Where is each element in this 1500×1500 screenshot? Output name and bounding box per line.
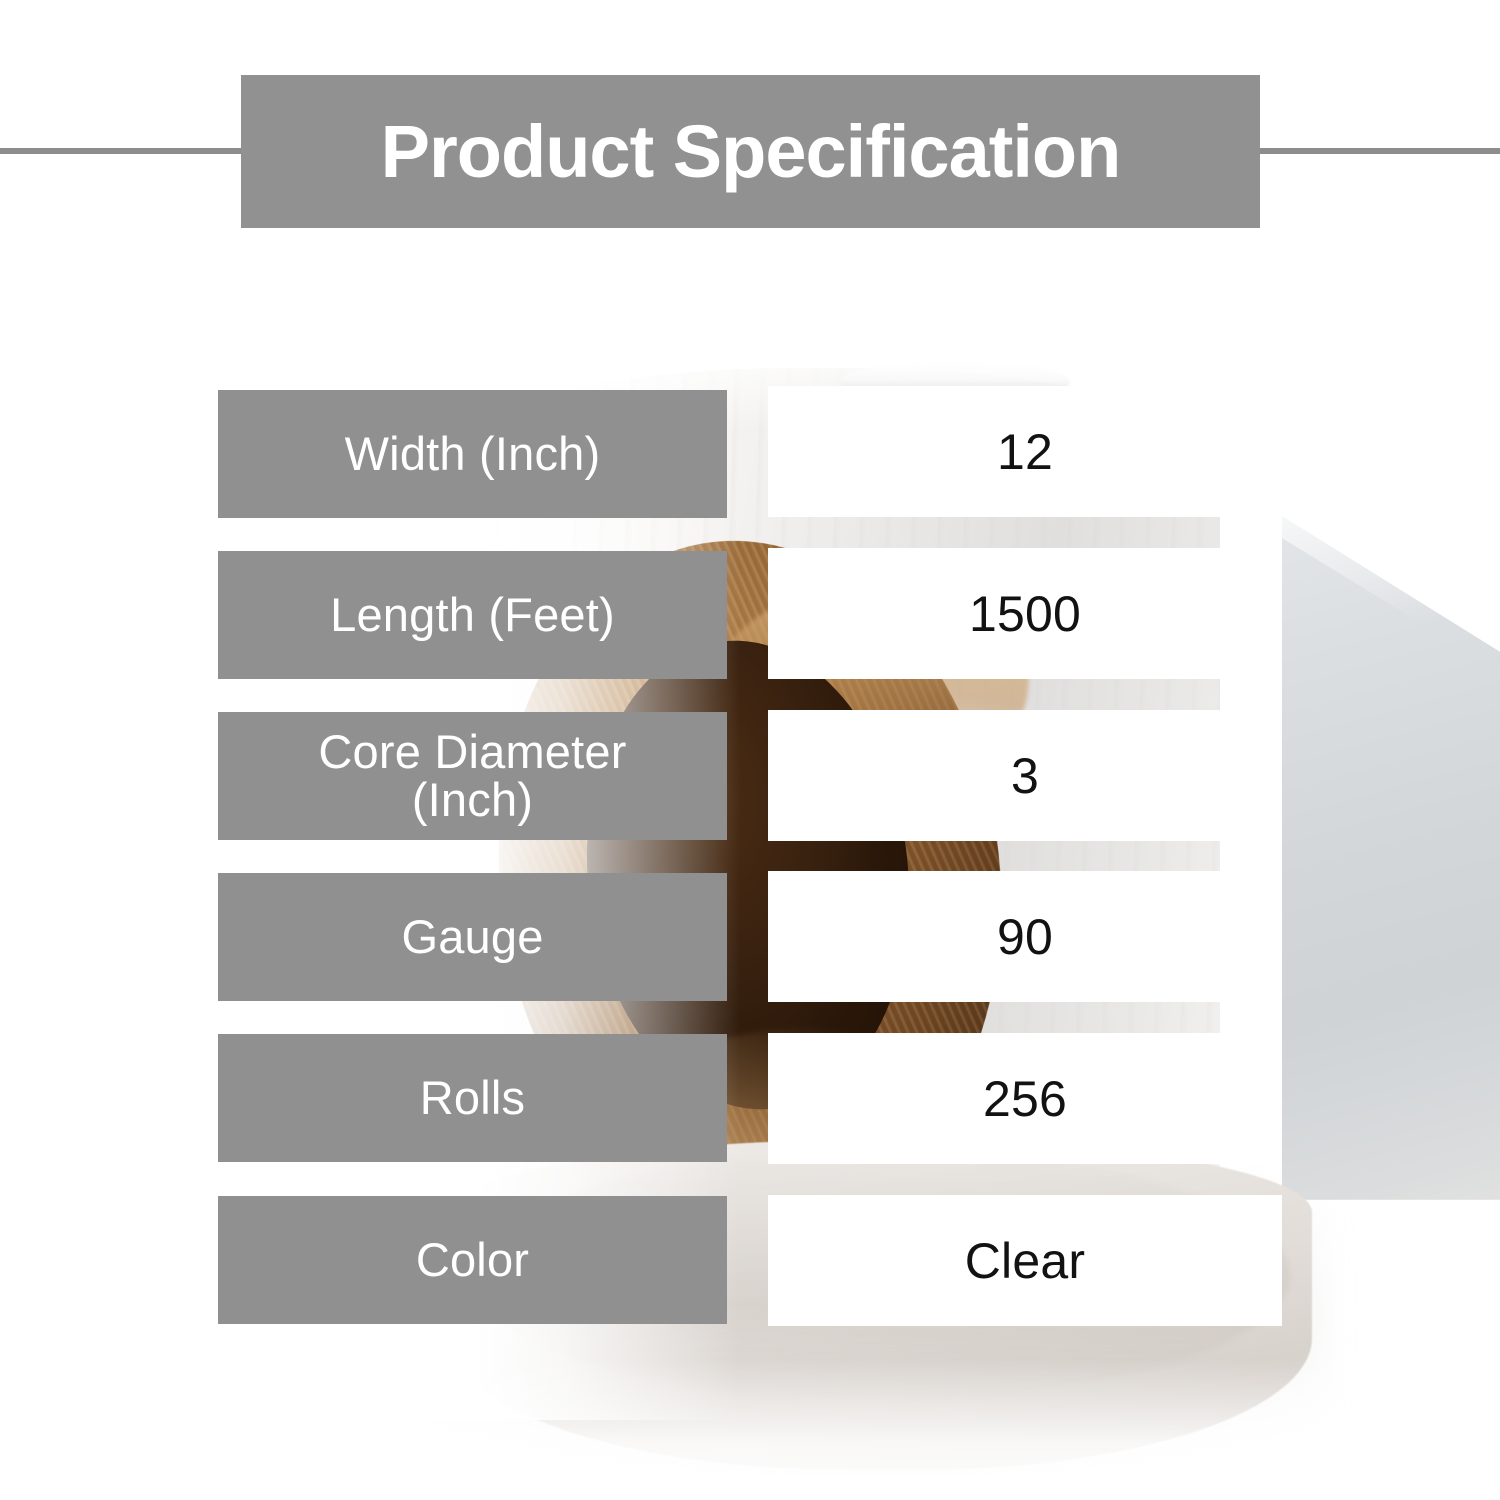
spec-value-core-diameter: 3 <box>768 710 1282 841</box>
spec-label-color: Color <box>218 1196 727 1324</box>
spec-label-rolls: Rolls <box>218 1034 727 1162</box>
spec-label-text: Width (Inch) <box>335 430 611 478</box>
spec-label-text: Core Diameter (Inch) <box>308 728 636 824</box>
spec-value-text: 256 <box>983 1074 1067 1124</box>
spec-value-width: 12 <box>768 386 1282 517</box>
spec-label-length: Length (Feet) <box>218 551 727 679</box>
spec-table: Width (Inch) 12 Length (Feet) 1500 Core … <box>0 0 1500 1500</box>
spec-value-text: 3 <box>1011 751 1039 801</box>
spec-value-color: Clear <box>768 1195 1282 1326</box>
spec-label-text: Gauge <box>391 913 553 961</box>
spec-value-text: 12 <box>997 427 1053 477</box>
spec-label-width: Width (Inch) <box>218 390 727 518</box>
spec-label-gauge: Gauge <box>218 873 727 1001</box>
spec-value-length: 1500 <box>768 548 1282 679</box>
spec-label-text: Rolls <box>410 1074 535 1122</box>
spec-value-gauge: 90 <box>768 871 1282 1002</box>
spec-value-text: 1500 <box>969 589 1081 639</box>
spec-value-text: 90 <box>997 912 1053 962</box>
spec-value-text: Clear <box>965 1236 1085 1286</box>
spec-value-rolls: 256 <box>768 1033 1282 1164</box>
spec-label-text: Length (Feet) <box>320 591 625 639</box>
spec-label-core-diameter: Core Diameter (Inch) <box>218 712 727 840</box>
spec-label-text: Color <box>406 1236 539 1284</box>
